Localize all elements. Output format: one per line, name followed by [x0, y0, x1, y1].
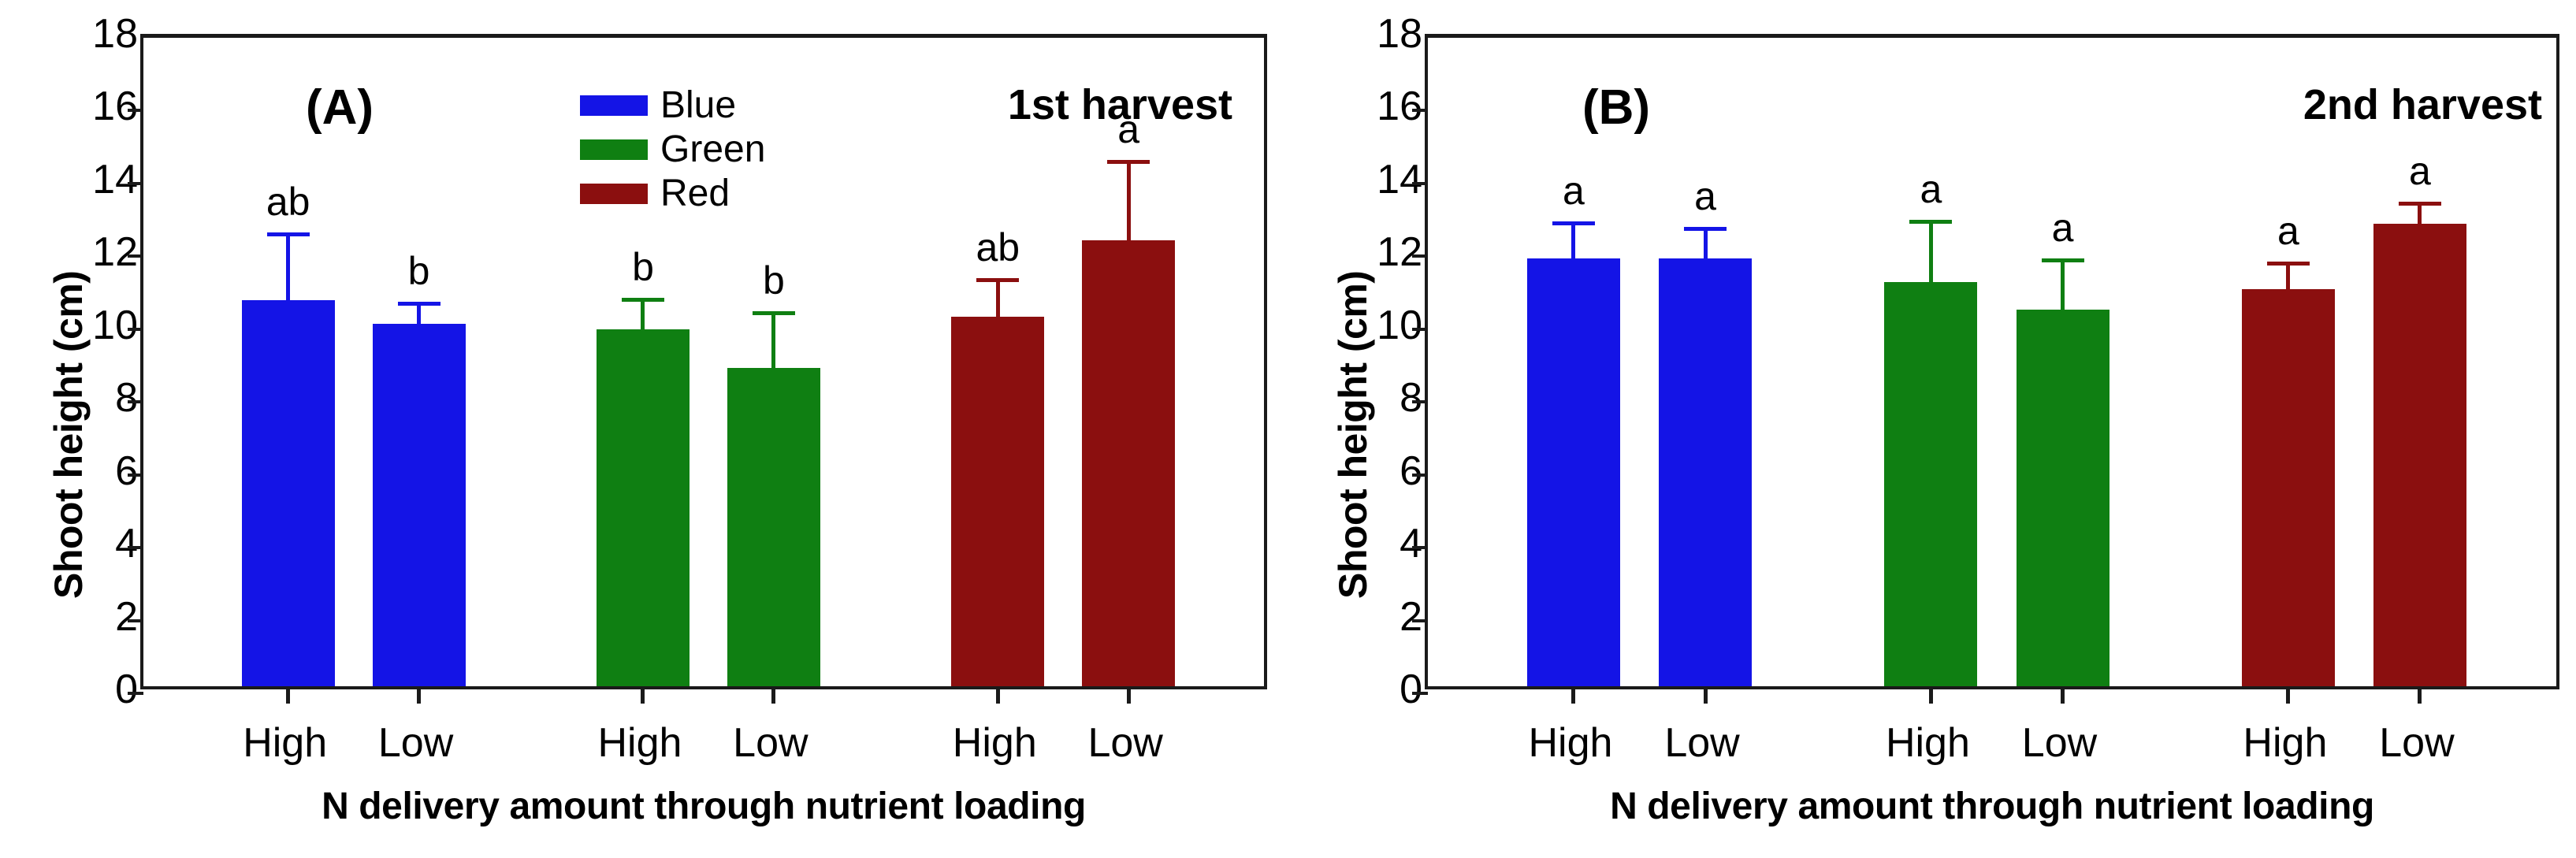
y-tick-label: 6: [67, 451, 138, 492]
legend-item-blue: Blue: [580, 84, 765, 128]
y-tick-label: 8: [67, 377, 138, 418]
y-tick-label: 10: [67, 305, 138, 346]
bar-red-high: [951, 317, 1044, 686]
significance-label: a: [1694, 176, 1716, 216]
x-tick-label-high: High: [1886, 722, 1970, 763]
x-tick-mark: [2061, 686, 2065, 704]
x-tick-label-low: Low: [733, 722, 808, 763]
x-tick-label-high: High: [597, 722, 682, 763]
x-tick-mark: [1929, 686, 1933, 704]
error-bar-cap: [622, 298, 664, 302]
y-tick-label: 14: [67, 159, 138, 200]
x-tick-mark: [286, 686, 290, 704]
y-tick-label: 0: [67, 669, 138, 710]
y-tick-label: 2: [67, 596, 138, 637]
significance-label: a: [1563, 171, 1585, 210]
legend: BlueGreenRed: [580, 84, 765, 216]
x-tick-mark: [641, 686, 645, 704]
error-bar-cap: [2399, 202, 2441, 206]
y-tick-label: 12: [1351, 232, 1422, 273]
bar-red-low: [2373, 224, 2466, 686]
plot-area-a: (A) 1st harvest BlueGreenRed abbbbaba: [140, 34, 1267, 689]
legend-label: Green: [660, 131, 765, 169]
significance-label: b: [763, 261, 785, 300]
y-tick-mark: [128, 400, 143, 403]
error-bar-cap: [2042, 258, 2084, 262]
bar-green-low: [2017, 310, 2109, 686]
x-tick-mark: [2418, 686, 2422, 704]
error-bar: [417, 302, 421, 331]
legend-item-green: Green: [580, 128, 765, 172]
y-tick-mark: [128, 328, 143, 331]
error-bar: [1929, 220, 1933, 289]
error-bar: [771, 311, 775, 375]
error-bar: [996, 278, 1000, 324]
panel-letter-a: (A): [306, 84, 374, 132]
y-tick-mark: [128, 546, 143, 549]
x-axis-title-a: N delivery amount through nutrient loadi…: [140, 788, 1267, 826]
bar-green-high: [597, 329, 690, 686]
significance-label: ab: [266, 182, 310, 221]
x-axis-title-b: N delivery amount through nutrient loadi…: [1425, 788, 2559, 826]
error-bar-cap: [1107, 160, 1150, 164]
y-tick-label: 0: [1351, 669, 1422, 710]
error-bar-cap: [398, 302, 440, 306]
panel-title-b: 2nd harvest: [2303, 84, 2542, 126]
y-tick-label: 4: [1351, 523, 1422, 564]
y-tick-mark: [1412, 254, 1428, 258]
y-tick-mark: [1412, 692, 1428, 695]
y-tick-mark: [128, 692, 143, 695]
x-tick-label-low: Low: [1664, 722, 1739, 763]
x-tick-label-high: High: [243, 722, 327, 763]
panel-a: Shoot height (cm) 181614121086420 (A) 1s…: [0, 0, 1292, 858]
x-tick-label-low: Low: [1087, 722, 1162, 763]
y-tick-mark: [128, 474, 143, 477]
x-tick-mark: [771, 686, 775, 704]
y-tick-mark: [1412, 619, 1428, 622]
error-bar-cap: [2267, 262, 2310, 266]
figure-container: Shoot height (cm) 181614121086420 (A) 1s…: [0, 0, 2576, 858]
error-bar-cap: [976, 278, 1019, 282]
y-tick-label: 6: [1351, 451, 1422, 492]
bar-blue-low: [373, 324, 466, 686]
y-tick-mark: [128, 109, 143, 112]
error-bar: [1571, 221, 1575, 265]
error-bar-cap: [267, 232, 310, 236]
bar-red-low: [1082, 240, 1175, 686]
x-tick-mark: [1127, 686, 1131, 704]
significance-label: ab: [976, 228, 1020, 267]
error-bar: [1704, 227, 1708, 266]
legend-swatch-blue: [580, 95, 648, 116]
error-bar-cap: [1552, 221, 1595, 225]
y-tick-label: 14: [1351, 159, 1422, 200]
significance-label: a: [1117, 110, 1139, 149]
y-tick-label: 2: [1351, 596, 1422, 637]
y-tick-mark: [128, 182, 143, 185]
panel-letter-b: (B): [1582, 84, 1650, 132]
significance-label: a: [2409, 151, 2431, 191]
x-tick-label-high: High: [2243, 722, 2327, 763]
y-tick-label: 12: [67, 232, 138, 273]
error-bar: [641, 298, 645, 336]
y-tick-label: 18: [1351, 13, 1422, 54]
bar-blue-high: [242, 300, 335, 686]
bar-green-low: [727, 368, 820, 686]
legend-item-red: Red: [580, 172, 765, 216]
x-tick-label-low: Low: [2022, 722, 2097, 763]
y-tick-label: 8: [1351, 377, 1422, 418]
y-tick-mark: [1412, 546, 1428, 549]
error-bar: [286, 232, 290, 307]
significance-label: a: [1920, 169, 1942, 209]
error-bar: [2418, 202, 2422, 231]
x-tick-mark: [1571, 686, 1575, 704]
error-bar: [1127, 160, 1131, 247]
y-tick-mark: [128, 619, 143, 622]
legend-swatch-red: [580, 184, 648, 204]
legend-label: Blue: [660, 87, 736, 124]
y-tick-label: 4: [67, 523, 138, 564]
x-tick-label-high: High: [953, 722, 1037, 763]
legend-swatch-green: [580, 139, 648, 160]
y-tick-mark: [1412, 182, 1428, 185]
x-tick-mark: [417, 686, 421, 704]
bar-red-high: [2242, 289, 2335, 686]
error-bar: [2061, 258, 2065, 317]
x-tick-mark: [996, 686, 1000, 704]
y-tick-label: 16: [1351, 86, 1422, 127]
y-tick-mark: [128, 254, 143, 258]
y-tick-label: 16: [67, 86, 138, 127]
error-bar: [2286, 262, 2290, 296]
x-tick-label-low: Low: [2379, 722, 2454, 763]
y-tick-mark: [1412, 474, 1428, 477]
bar-green-high: [1884, 282, 1977, 686]
x-tick-mark: [1704, 686, 1708, 704]
legend-label: Red: [660, 175, 730, 213]
y-tick-mark: [1412, 400, 1428, 403]
error-bar-cap: [1684, 227, 1727, 231]
significance-label: b: [632, 247, 654, 287]
y-tick-mark: [1412, 328, 1428, 331]
error-bar-cap: [1909, 220, 1952, 224]
significance-label: b: [408, 251, 430, 291]
bar-blue-low: [1659, 258, 1752, 686]
panel-b: Shoot height (cm) 181614121086420 (B) 2n…: [1292, 0, 2576, 858]
x-tick-mark: [2286, 686, 2290, 704]
significance-label: a: [2052, 208, 2074, 247]
x-tick-label-low: Low: [378, 722, 453, 763]
plot-area-b: (B) 2nd harvest aaaaaa: [1425, 34, 2559, 689]
error-bar-cap: [753, 311, 795, 315]
y-tick-label: 18: [67, 13, 138, 54]
bar-blue-high: [1527, 258, 1620, 686]
y-tick-mark: [1412, 109, 1428, 112]
significance-label: a: [2277, 211, 2299, 251]
x-tick-label-high: High: [1528, 722, 1612, 763]
y-tick-label: 10: [1351, 305, 1422, 346]
